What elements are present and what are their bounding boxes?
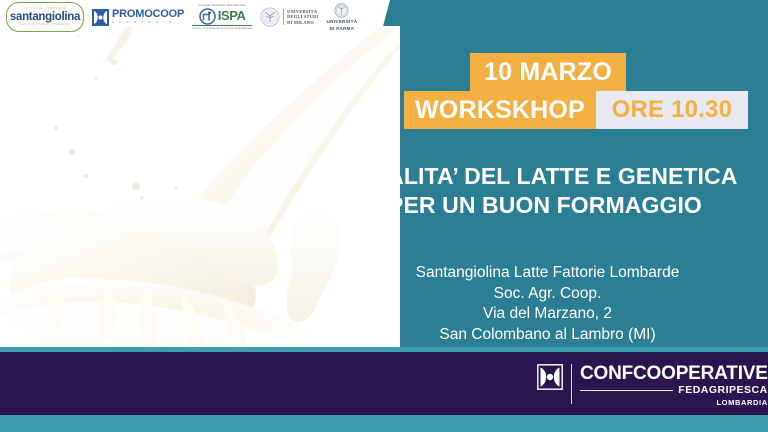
confcooperative-mark-icon: [537, 364, 563, 390]
date-banner: 10 MARZO: [470, 53, 626, 91]
event-headline: QUALITA’ DEL LATTE E GENETICA PER UN BUO…: [330, 162, 760, 220]
partner-logo-bar: FATTORIE LOMBARDE santangiolina LATTE FA…: [0, 0, 400, 34]
venue-line-4: San Colombano al Lambro (MI): [355, 325, 740, 346]
ispa-bottom-text: ISTITUTO DI SCIENZE DELLE PRODUZIONI ALI…: [192, 25, 252, 31]
logo-confcooperative: CONFCOOPERATIVE FEDAGRIPESCA LOMBARDIA: [537, 364, 768, 408]
promocoop-mark-icon: [92, 9, 109, 26]
promocoop-name: PROMOCOOP: [112, 9, 184, 20]
unipr-line-2: DI PARMA: [330, 26, 355, 32]
unimi-seal-icon: [260, 7, 280, 27]
headline-line-2: PER UN BUON FORMAGGIO: [330, 191, 760, 220]
workshop-text: WORKSKHOP: [415, 98, 585, 123]
unimi-line-3: DI MILANO: [287, 20, 318, 26]
logo-universita-milano: UNIVERSITÀ DEGLI STUDI DI MILANO: [260, 7, 318, 27]
confcooperative-division: FEDAGRIPESCA: [678, 384, 767, 397]
santangiolina-name: santangiolina: [10, 11, 80, 23]
venue-block: Santangiolina Latte Fattorie Lombarde So…: [355, 263, 740, 345]
headline-line-1: QUALITA’ DEL LATTE E GENETICA: [330, 162, 760, 191]
unipr-seal-icon: [334, 3, 349, 18]
logo-ispa: Consiglio Nazionale delle Ricerche ISPA …: [192, 4, 252, 31]
footer-teal-strip-bottom: [0, 415, 768, 432]
time-text: ORE 10.30: [612, 98, 733, 122]
venue-line-3: Via del Marzano, 2: [355, 304, 740, 325]
santangiolina-bottom-text: LATTE FATTORIE LOMBARDE: [20, 23, 70, 27]
workshop-label-box: WORKSKHOP: [404, 91, 596, 129]
ispa-name: ISPA: [218, 9, 246, 23]
venue-line-2: Soc. Agr. Coop.: [355, 284, 740, 305]
promocoop-subtitle: L O M B A R D I A: [112, 20, 184, 25]
logo-santangiolina: FATTORIE LOMBARDE santangiolina LATTE FA…: [6, 2, 84, 32]
venue-line-1: Santangiolina Latte Fattorie Lombarde: [355, 263, 740, 284]
confcooperative-divider: [571, 364, 572, 404]
logo-promocoop: PROMOCOOP L O M B A R D I A: [92, 9, 184, 26]
confcooperative-region: LOMBARDIA: [716, 397, 767, 408]
event-poster: FATTORIE LOMBARDE santangiolina LATTE FA…: [0, 0, 768, 432]
date-text: 10 MARZO: [484, 60, 612, 85]
unipr-line-1: UNIVERSITÀ: [327, 19, 358, 25]
confcooperative-rule: [580, 390, 673, 391]
confcooperative-name: CONFCOOPERATIVE: [580, 364, 768, 384]
workshop-time-banner: WORKSKHOP ORE 10.30: [404, 91, 748, 129]
ispa-mark-icon: [199, 8, 216, 25]
logo-universita-parma: UNIVERSITÀ DI PARMA: [327, 3, 358, 31]
time-label-box: ORE 10.30: [596, 91, 748, 129]
